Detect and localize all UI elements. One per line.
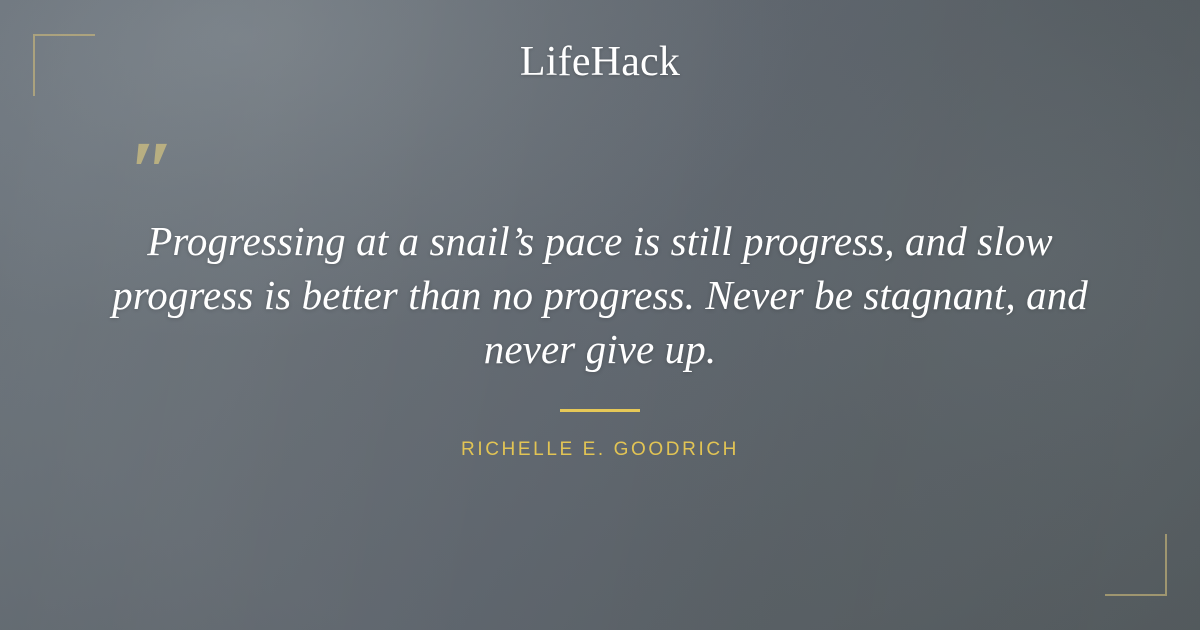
gold-divider (560, 409, 640, 412)
quote-card: LifeHack ″ Progressing at a snail’s pace… (0, 0, 1200, 630)
quote-line: never give up. (100, 322, 1100, 376)
quote-line: Progressing at a snail’s pace is still p… (100, 214, 1100, 268)
brand-logo[interactable]: LifeHack (0, 36, 1200, 88)
quote-line: progress is better than no progress. Nev… (100, 268, 1100, 322)
quote-block: Progressing at a snail’s pace is still p… (100, 214, 1100, 376)
quotation-mark-icon: ″ (128, 128, 176, 214)
divider-container (0, 409, 1200, 412)
quote-author: RICHELLE E. GOODRICH (0, 437, 1200, 463)
